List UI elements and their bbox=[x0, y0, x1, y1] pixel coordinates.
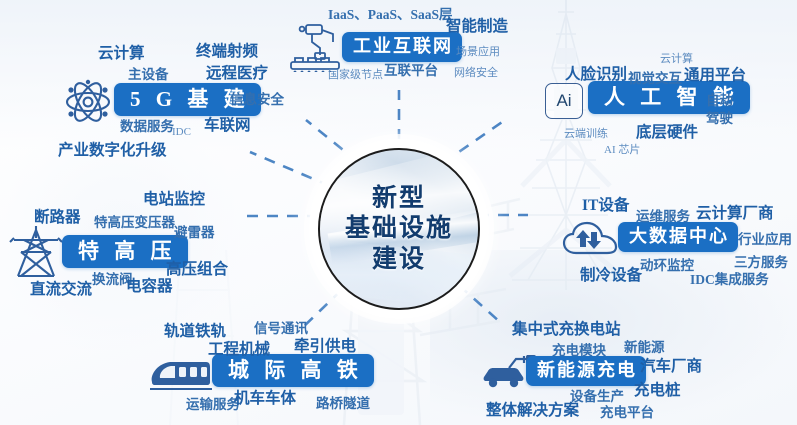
keyword-bdc-it-equipment: IT设备 bbox=[582, 198, 629, 214]
center-title: 新型 基础设施 建设 bbox=[318, 148, 480, 310]
keyword-5g-idc: IDC bbox=[172, 127, 191, 138]
keyword-nec-charge-pile: 充电桩 bbox=[634, 383, 681, 399]
keyword-ii-iaas-paas-saas: IaaS、PaaS、SaaS层 bbox=[328, 8, 453, 22]
keyword-5g-telemedicine: 远程医疗 bbox=[206, 66, 268, 82]
keyword-bdc-idc-integration: IDC集成服务 bbox=[690, 273, 769, 287]
cloud-transfer-icon bbox=[562, 221, 618, 259]
center-title-line-3: 建设 bbox=[372, 245, 426, 274]
infographic-canvas: 新型 基础设施 建设 5 G 基 建 云计算 终端射频 主设备 远程医疗 信息安… bbox=[0, 0, 797, 425]
keyword-ii-smart-mfg: 智能制造 bbox=[446, 19, 508, 35]
keyword-5g-main-equipment: 主设备 bbox=[128, 68, 169, 82]
sector-ai[interactable]: Ai 人 工 智 能 人脸识别 云计算 视觉交互 通用平台 自动 驾驶 云端训练… bbox=[520, 50, 797, 160]
sector-nec-title[interactable]: 新能源充电 bbox=[526, 356, 646, 386]
keyword-uhv-station-monitor: 电站监控 bbox=[143, 192, 205, 208]
sector-rail-title[interactable]: 城 际 高 铁 bbox=[212, 354, 374, 387]
center-title-line-1: 新型 bbox=[372, 184, 426, 213]
keyword-ii-network-security: 网络安全 bbox=[454, 68, 498, 79]
sector-bdc-title[interactable]: 大数据中心 bbox=[618, 222, 738, 252]
keyword-5g-terminal-rf: 终端射频 bbox=[196, 44, 258, 60]
keyword-ai-cloud-training: 云端训练 bbox=[564, 129, 608, 140]
keyword-ai-chip: AI 芯片 bbox=[604, 145, 640, 156]
atom-icon bbox=[62, 76, 114, 128]
keyword-nec-charge-platform: 充电平台 bbox=[600, 406, 654, 420]
keyword-rail-eng-machinery: 工程机械 bbox=[208, 342, 270, 358]
keyword-uhv-hv-assembly: 高压组合 bbox=[166, 262, 228, 278]
keyword-rail-locomotive: 机车车体 bbox=[234, 391, 296, 407]
keyword-rail-transport-svc: 运输服务 bbox=[186, 398, 240, 412]
keyword-ai-autonomous-1: 自动 bbox=[706, 94, 733, 108]
keyword-nec-central-station: 集中式充换电站 bbox=[512, 322, 621, 338]
keyword-bdc-om-service: 运维服务 bbox=[636, 210, 690, 224]
keyword-ai-face-recognition: 人脸识别 bbox=[565, 67, 627, 83]
keyword-ai-autonomous-2: 驾驶 bbox=[706, 112, 733, 126]
sector-intercity-rail[interactable]: 城 际 高 铁 轨道铁轨 信号通讯 工程机械 牵引供电 运输服务 机车车体 路桥… bbox=[128, 316, 418, 425]
keyword-rail-signal-comm: 信号通讯 bbox=[254, 322, 308, 336]
keyword-nec-new-energy: 新能源 bbox=[624, 341, 665, 355]
keyword-bdc-cooling: 制冷设备 bbox=[580, 268, 642, 284]
keyword-bdc-industry-app: 行业应用 bbox=[738, 233, 792, 247]
keyword-bdc-cloud-vendor: 云计算厂商 bbox=[696, 206, 774, 222]
high-speed-train-icon bbox=[150, 356, 212, 392]
sector-industrial-internet-title[interactable]: 工业互联网 bbox=[342, 32, 462, 62]
sector-industrial-internet[interactable]: 工业互联网 IaaS、PaaS、SaaS层 智能制造 场景应用 国家级节点 互联… bbox=[280, 0, 510, 92]
keyword-uhv-capacitor: 电容器 bbox=[126, 279, 173, 295]
keyword-rail-bridge-tunnel: 路桥隧道 bbox=[316, 397, 370, 411]
keyword-ai-general-platform: 通用平台 bbox=[684, 68, 746, 84]
keyword-uhv-dc-ac: 直流交流 bbox=[30, 282, 92, 298]
keyword-ii-national-node: 国家级节点 bbox=[328, 70, 383, 81]
sector-uhv[interactable]: 特 高 压 电站监控 断路器 特高压变压器 避雷器 高压组合 直流交流 换流阀 … bbox=[0, 178, 280, 303]
keyword-ai-underlying-hw: 底层硬件 bbox=[636, 125, 698, 141]
keyword-ai-visual-interaction: 视觉交互 bbox=[628, 72, 682, 86]
keyword-nec-charge-module: 充电模块 bbox=[552, 344, 606, 358]
keyword-5g-data-service: 数据服务 bbox=[120, 120, 174, 134]
power-pylon-icon bbox=[8, 226, 64, 280]
center-medallion: 新型 基础设施 建设 bbox=[318, 148, 480, 310]
keyword-nec-auto-maker: 汽车厂商 bbox=[640, 359, 702, 375]
sector-new-energy-charging[interactable]: 新能源充电 集中式充换电站 充电模块 新能源 汽车厂商 充电桩 设备生产 整体解… bbox=[468, 318, 758, 425]
keyword-rail-traction-power: 牵引供电 bbox=[294, 339, 356, 355]
keyword-bdc-env-monitoring: 动环监控 bbox=[640, 259, 694, 273]
keyword-5g-cloud-computing: 云计算 bbox=[98, 46, 145, 62]
keyword-ii-connect-platform: 互联平台 bbox=[384, 64, 438, 78]
ai-badge-icon: Ai bbox=[545, 83, 583, 119]
keyword-ii-scenario-app: 场景应用 bbox=[456, 47, 500, 58]
keyword-uhv-breaker: 断路器 bbox=[34, 210, 81, 226]
sector-big-data-center[interactable]: 大数据中心 IT设备 运维服务 云计算厂商 行业应用 三方服务 制冷设备 动环监… bbox=[540, 190, 797, 300]
center-title-line-2: 基础设施 bbox=[345, 214, 453, 243]
robot-arm-icon bbox=[288, 22, 342, 72]
keyword-uhv-transformer: 特高压变压器 bbox=[94, 216, 175, 230]
keyword-rail-track: 轨道铁轨 bbox=[164, 324, 226, 340]
keyword-nec-total-solution: 整体解决方案 bbox=[486, 403, 579, 419]
keyword-ai-cloud-computing: 云计算 bbox=[660, 54, 693, 65]
keyword-5g-info-security: 信息安全 bbox=[230, 93, 284, 107]
keyword-5g-iov: 车联网 bbox=[204, 118, 251, 134]
keyword-5g-industry-digital: 产业数字化升级 bbox=[58, 143, 167, 159]
keyword-uhv-arrester: 避雷器 bbox=[174, 226, 215, 240]
keyword-bdc-third-party: 三方服务 bbox=[734, 256, 788, 270]
